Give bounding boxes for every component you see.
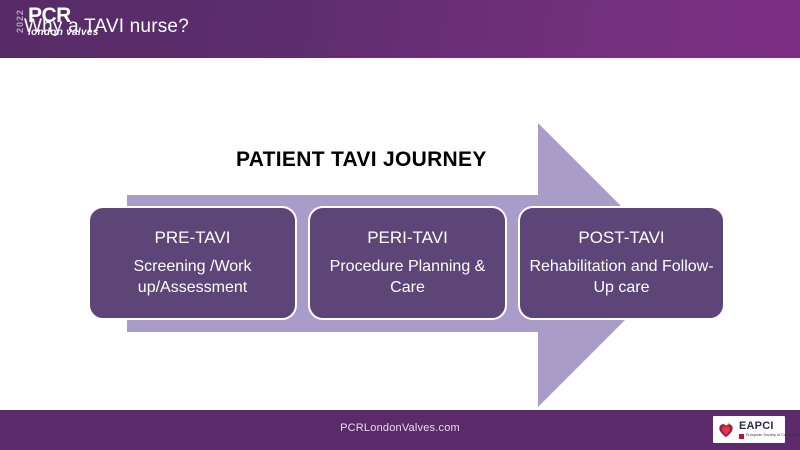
heart-icon: [717, 421, 735, 439]
eapci-tagline: European Society of Cardiology: [746, 434, 800, 438]
slide-header-bar: Why a TAVI nurse?: [0, 0, 800, 58]
logo-text-stack: PCR london valves: [28, 5, 99, 38]
pcr-london-valves-logo: 2022 PCR london valves: [16, 5, 99, 37]
stage-label: PRE-TAVI: [155, 228, 231, 248]
eapci-logo: EAPCI European Society of Cardiology: [713, 416, 785, 443]
stage-label: PERI-TAVI: [367, 228, 448, 248]
stage-description: Rehabilitation and Follow-Up care: [528, 257, 715, 298]
stage-box-peri-tavi[interactable]: PERI-TAVI Procedure Planning & Care: [308, 206, 507, 320]
eapci-tagline-row: European Society of Cardiology: [739, 434, 800, 439]
patient-journey-diagram: PATIENT TAVI JOURNEY PRE-TAVI Screening …: [0, 58, 800, 410]
logo-subtitle: london valves: [28, 28, 99, 38]
stage-box-pre-tavi[interactable]: PRE-TAVI Screening /Work up/Assessment: [88, 206, 297, 320]
logo-name: PCR: [28, 5, 99, 26]
eapci-name: EAPCI: [739, 421, 800, 432]
footer-url: PCRLondonValves.com: [0, 422, 800, 434]
stage-description: Procedure Planning & Care: [318, 257, 497, 298]
eapci-text: EAPCI European Society of Cardiology: [739, 421, 800, 439]
stage-description: Screening /Work up/Assessment: [98, 257, 287, 298]
slide: Why a TAVI nurse? PATIENT TAVI JOURNEY P…: [0, 0, 800, 450]
esc-square-icon: [739, 434, 744, 439]
logo-year: 2022: [16, 9, 25, 33]
stage-label: POST-TAVI: [578, 228, 664, 248]
stage-box-post-tavi[interactable]: POST-TAVI Rehabilitation and Follow-Up c…: [518, 206, 725, 320]
